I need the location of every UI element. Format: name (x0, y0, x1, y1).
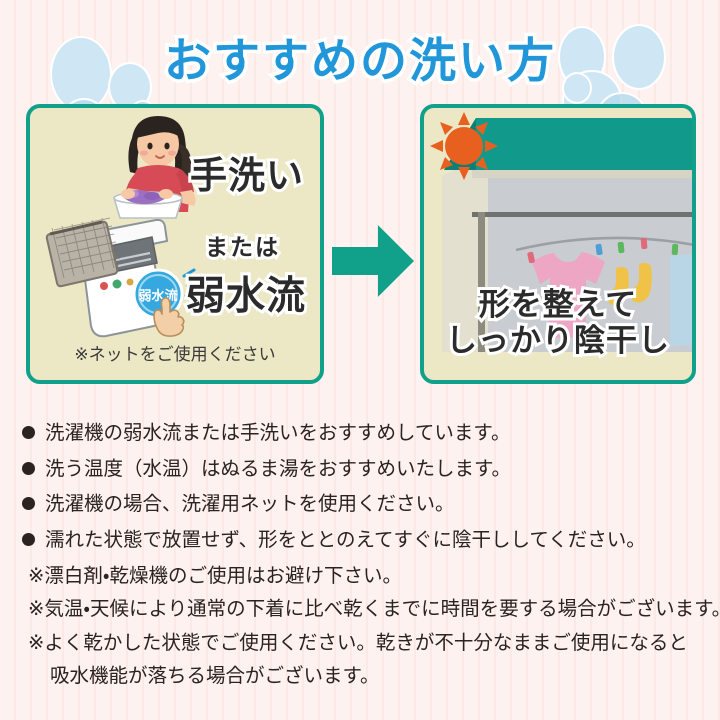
badge-label: 弱水流 (138, 288, 177, 304)
bullet-icon (22, 462, 35, 475)
caption-line-2: しっかり陰干し (420, 324, 696, 360)
footnote-use-net: ※ネットをご使用ください (26, 340, 324, 365)
care-note-item: 濡れた状態で放置せず、形をととのえてすぐに陰干ししてください。 (22, 525, 712, 555)
care-note-item: ※漂白剤・乾燥機のご使用はお避け下さい。 (22, 561, 712, 591)
care-note-text: 吸水機能が落ちる場合がございます。 (50, 661, 712, 691)
care-note-text: ※よく乾かした状態でご使用ください。乾きが不十分なままご使用になると (28, 628, 712, 658)
page-title: おすすめの洗い方 (0, 22, 720, 91)
care-note-item: 洗う温度（水温）はぬるま湯をおすすめいたします。 (22, 454, 712, 484)
bullet-icon (22, 426, 35, 439)
caption-shape-and-shade-dry: 形を整えて しっかり陰干し (420, 288, 696, 360)
bullet-icon (22, 533, 35, 546)
heading-handwash: 手洗い (190, 145, 304, 199)
care-note-item: 洗濯機の場合、洗濯用ネットを使用ください。 (22, 489, 712, 519)
sun-icon (430, 112, 498, 180)
right-arrow-icon (332, 222, 414, 300)
care-note-item: 吸水機能が落ちる場合がございます。 (22, 661, 712, 691)
care-note-text: 洗う温度（水温）はぬるま湯をおすすめいたします。 (45, 454, 712, 484)
heading-weak-water-flow: 弱水流 (186, 265, 306, 321)
care-note-text: 洗濯機の弱水流または手洗いをおすすめしています。 (45, 418, 712, 448)
caption-line-1: 形を整えて (420, 288, 696, 324)
care-note-text: 洗濯機の場合、洗濯用ネットを使用ください。 (45, 489, 712, 519)
care-note-text: 濡れた状態で放置せず、形をととのえてすぐに陰干ししてください。 (45, 525, 712, 555)
connector-or: または (205, 228, 280, 262)
care-instruction-graphic: おすすめの洗い方 (0, 0, 720, 720)
care-note-item: ※よく乾かした状態でご使用ください。乾きが不十分なままご使用になると (22, 628, 712, 658)
care-note-item: 洗濯機の弱水流または手洗いをおすすめしています。 (22, 418, 712, 448)
care-notes-list: 洗濯機の弱水流または手洗いをおすすめしています。洗う温度（水温）はぬるま湯をおす… (22, 418, 712, 695)
care-note-text: ※漂白剤・乾燥機のご使用はお避け下さい。 (28, 561, 712, 591)
care-note-item: ※気温・天候により通常の下着に比べ乾くまでに時間を要する場合がございます。 (22, 594, 712, 624)
care-note-text: ※気温・天候により通常の下着に比べ乾くまでに時間を要する場合がございます。 (28, 594, 720, 624)
bullet-icon (22, 497, 35, 510)
